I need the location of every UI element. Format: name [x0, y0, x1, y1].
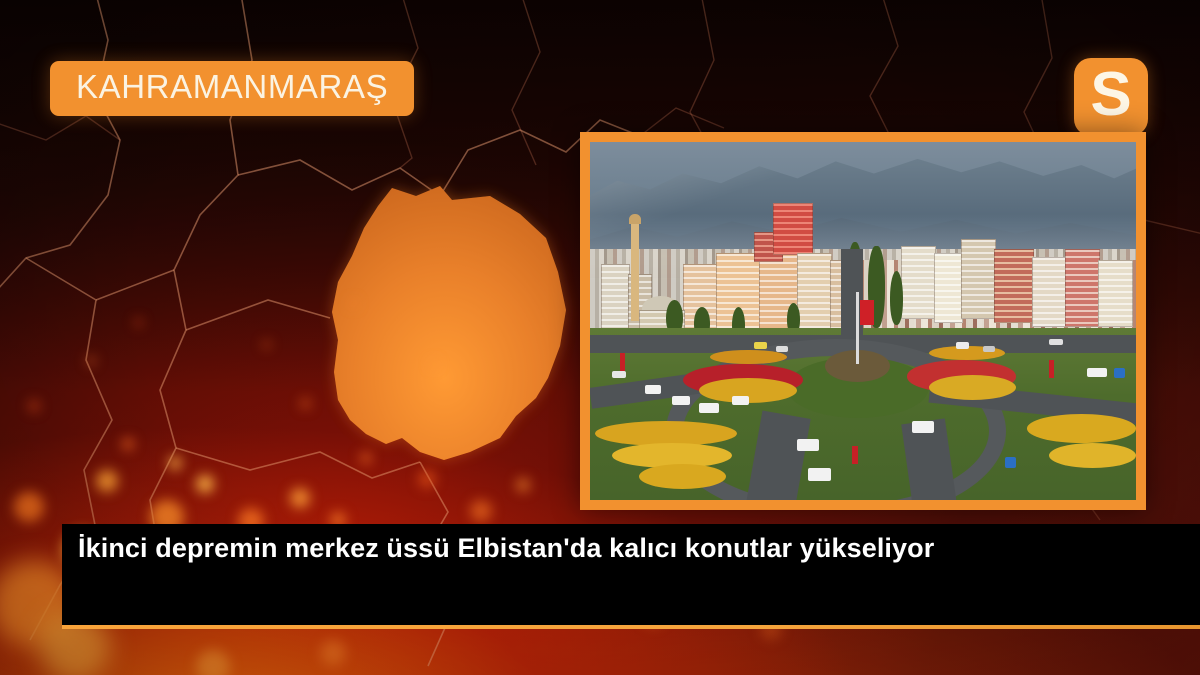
- news-photo: [590, 142, 1136, 500]
- province-name-badge: KAHRAMANMARAŞ: [50, 61, 414, 116]
- news-headline: İkinci depremin merkez üssü Elbistan'da …: [78, 532, 1200, 565]
- news-photo-frame[interactable]: [580, 132, 1146, 510]
- minaret: [631, 221, 638, 321]
- caption-underline-rule: [62, 625, 1200, 629]
- news-card: KAHRAMANMARAŞ S: [0, 0, 1200, 675]
- brand-logo-letter: S: [1090, 64, 1131, 126]
- province-name-label: KAHRAMANMARAŞ: [76, 68, 388, 105]
- news-caption-bar: İkinci depremin merkez üssü Elbistan'da …: [62, 524, 1200, 625]
- brand-logo[interactable]: S: [1074, 58, 1148, 136]
